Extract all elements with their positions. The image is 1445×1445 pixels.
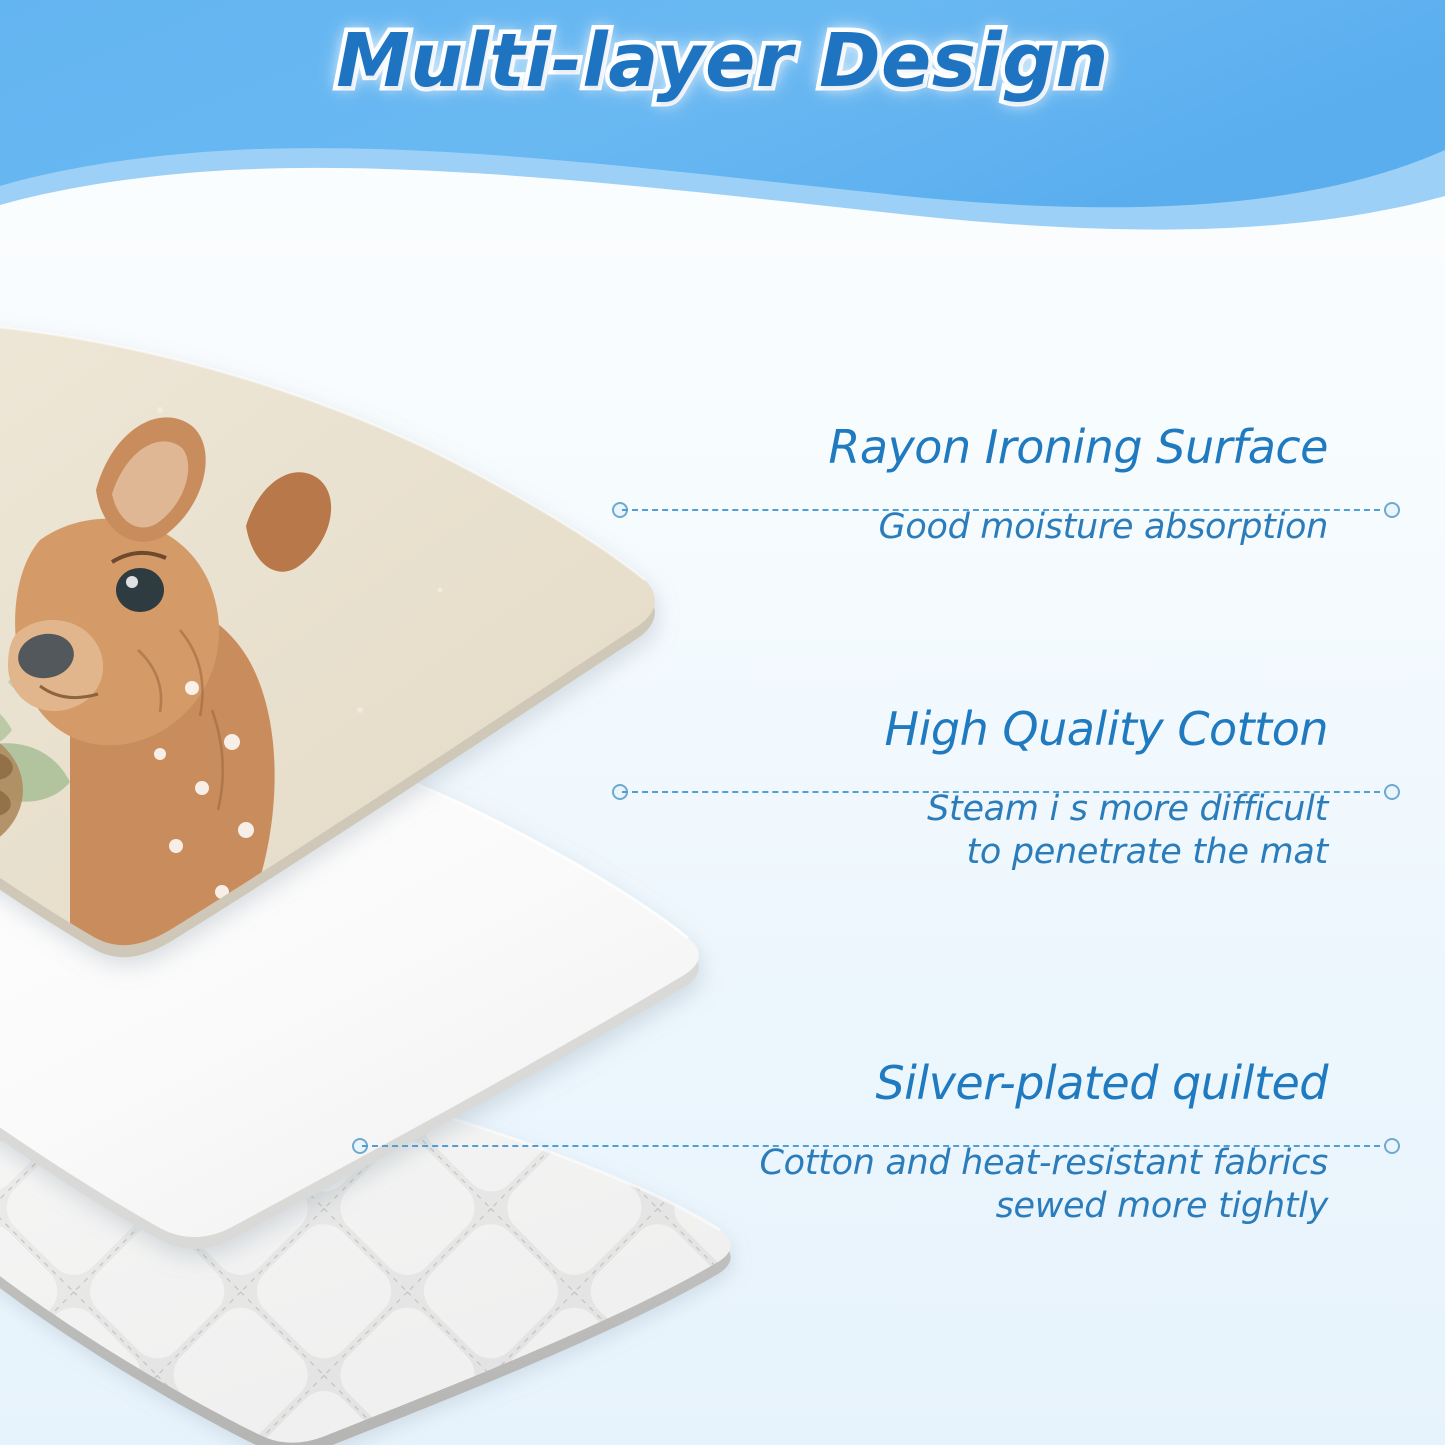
connector-line-3: [352, 1135, 1400, 1157]
multi-layer-design-infographic: Multi-layer Design Multi-layer Design: [0, 0, 1445, 1445]
connector-line-2: [612, 781, 1400, 803]
connector-line-1: [612, 499, 1400, 521]
connector-dot-right: [1384, 784, 1400, 800]
callout-rayon-ironing-surface: Rayon Ironing Surface Good moisture abso…: [586, 424, 1386, 549]
callout-title: Silver-plated quilted: [586, 1060, 1386, 1106]
header-wave-main: [0, 0, 1445, 207]
connector-dashed-line: [362, 1145, 1390, 1147]
connector-dashed-line: [622, 791, 1390, 793]
connector-dot-right: [1384, 1138, 1400, 1154]
callout-title: Rayon Ironing Surface: [586, 424, 1386, 470]
header-banner: Multi-layer Design Multi-layer Design: [0, 0, 1445, 230]
callout-title: High Quality Cotton: [586, 706, 1386, 752]
connector-dot-right: [1384, 502, 1400, 518]
connector-dashed-line: [622, 509, 1390, 511]
